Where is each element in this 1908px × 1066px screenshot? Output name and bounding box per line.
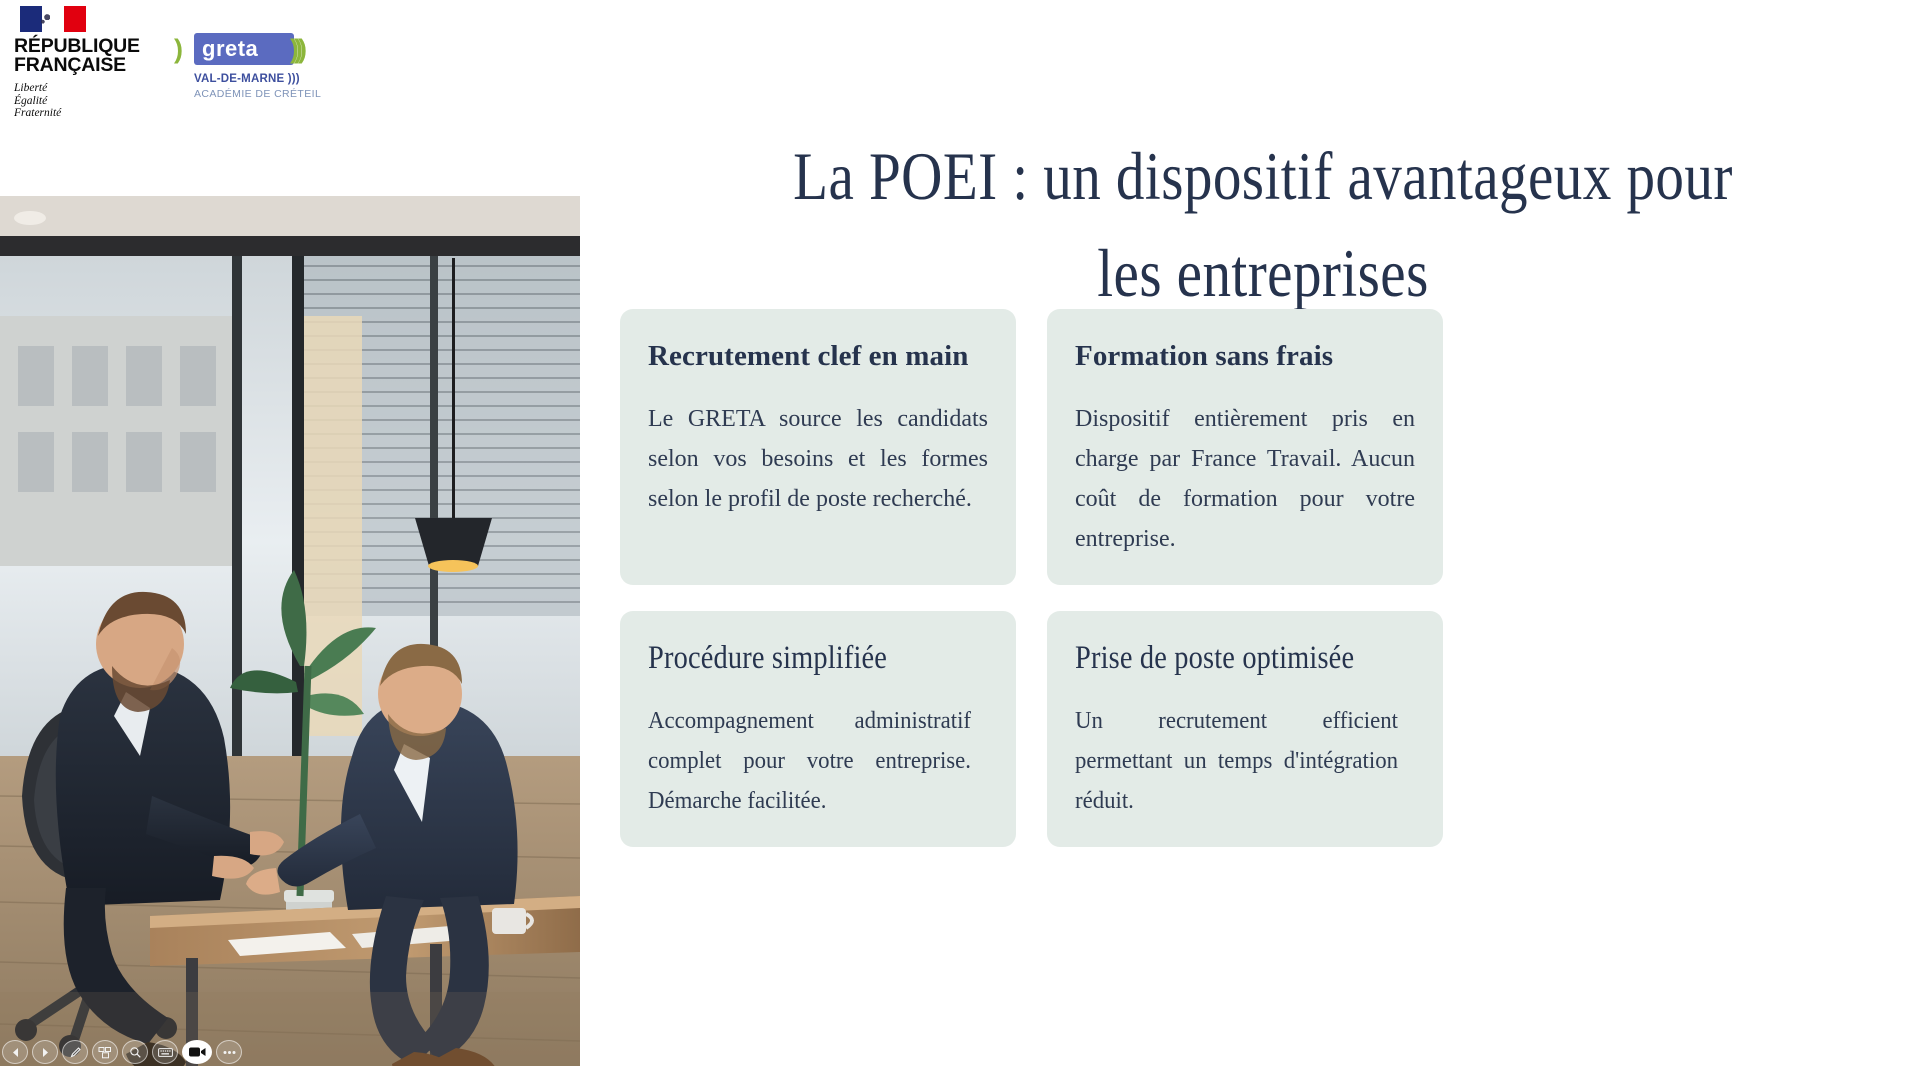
- devise-egalite: Égalité: [14, 95, 136, 108]
- more-icon[interactable]: [216, 1040, 242, 1064]
- keyboard-icon[interactable]: [152, 1040, 178, 1064]
- french-flag-icon: [20, 6, 86, 32]
- greta-subtitle-department: VAL-DE-MARNE ))): [194, 73, 324, 85]
- greta-subtitle-academy: ACADÉMIE DE CRÉTEIL: [194, 88, 324, 100]
- pen-icon[interactable]: [62, 1040, 88, 1064]
- greta-word: greta: [202, 30, 258, 68]
- benefit-cards-grid: Recrutement clef en main Le GRETA source…: [620, 309, 1908, 847]
- benefit-card-prise-de-poste: Prise de poste optimisée Un recrutement …: [1047, 611, 1443, 847]
- forward-icon[interactable]: [32, 1040, 58, 1064]
- card-body: Dispositif entièrement pris en charge pa…: [1075, 399, 1415, 559]
- republique-line-2: FRANÇAISE: [14, 56, 136, 75]
- office-meeting-photo: [0, 196, 580, 1066]
- layers-icon[interactable]: [92, 1040, 118, 1064]
- card-heading: Recrutement clef en main: [648, 339, 988, 373]
- devise-fraternite: Fraternité: [14, 107, 136, 120]
- greta-chevron-right-icon: ))): [290, 34, 302, 64]
- card-body: Un recrutement efficient permettant un t…: [1075, 701, 1398, 821]
- devise-liberte: Liberté: [14, 82, 136, 95]
- greta-chevron-left-icon: ): [174, 34, 178, 64]
- benefit-card-procedure: Procédure simplifiée Accompagnement admi…: [620, 611, 1016, 847]
- card-body: Accompagnement administratif complet pou…: [648, 701, 971, 821]
- benefit-card-formation: Formation sans frais Dispositif entièrem…: [1047, 309, 1443, 585]
- greta-logo: ) greta ))) VAL-DE-MARNE ))) ACADÉMIE DE…: [174, 30, 324, 100]
- card-heading: Formation sans frais: [1075, 339, 1415, 373]
- search-icon[interactable]: [122, 1040, 148, 1064]
- card-body: Le GRETA source les candidats selon vos …: [648, 399, 988, 519]
- back-icon[interactable]: [2, 1040, 28, 1064]
- card-heading: Prise de poste optimisée: [1075, 641, 1367, 675]
- slide-content: La POEI : un dispositif avantageux pour …: [620, 0, 1908, 1066]
- card-heading: Procédure simplifiée: [648, 641, 940, 675]
- republique-francaise-logo: RÉPUBLIQUE FRANÇAISE Liberté Égalité Fra…: [6, 6, 136, 120]
- presentation-toolbar[interactable]: [0, 1038, 290, 1066]
- page-title: La POEI : un dispositif avantageux pour …: [763, 128, 1763, 322]
- video-icon[interactable]: [182, 1040, 212, 1064]
- benefit-card-recrutement: Recrutement clef en main Le GRETA source…: [620, 309, 1016, 585]
- photo-illustration: [0, 196, 580, 1066]
- greta-wordmark: ) greta ))): [174, 30, 324, 68]
- slide-root: RÉPUBLIQUE FRANÇAISE Liberté Égalité Fra…: [0, 0, 1908, 1066]
- logo-bar: RÉPUBLIQUE FRANÇAISE Liberté Égalité Fra…: [0, 0, 600, 196]
